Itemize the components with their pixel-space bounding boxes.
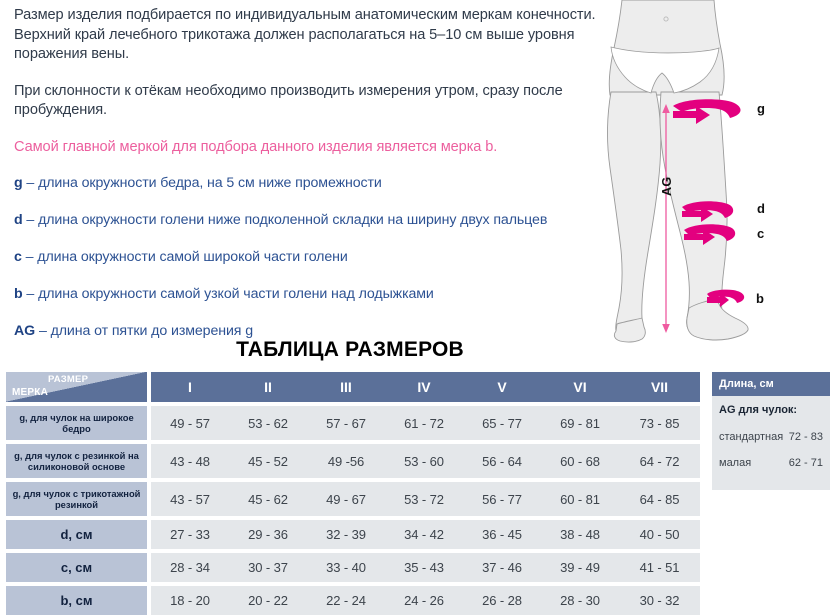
cell-r1-c1: 45 - 52 <box>229 444 307 478</box>
cell-r0-c4: 65 - 77 <box>463 406 541 440</box>
legend-text-b: длина окружности самой узкой части голен… <box>38 286 434 302</box>
table-row: d, см 27 - 33 29 - 36 32 - 39 34 - 42 36… <box>6 520 700 549</box>
cell-r4-c5: 39 - 49 <box>541 553 619 582</box>
figure-label-d: d <box>757 201 765 216</box>
corner-size-label: РАЗМЕР <box>48 374 88 385</box>
cell-r5-c4: 26 - 28 <box>463 586 541 615</box>
cell-r4-c1: 30 - 37 <box>229 553 307 582</box>
size-table-header-row: РАЗМЕР МЕРКА I II III IV V VI VII <box>6 372 700 402</box>
legend-item-d: d – длина окружности голени ниже подколе… <box>14 212 602 229</box>
intro-text-column: Размер изделия подбирается по индивидуал… <box>14 6 602 360</box>
cell-r1-c5: 60 - 68 <box>541 444 619 478</box>
cell-r5-c0: 18 - 20 <box>151 586 229 615</box>
cell-r5-c5: 28 - 30 <box>541 586 619 615</box>
table-row: g, для чулок на широкое бедро 49 - 57 53… <box>6 406 700 440</box>
cell-r0-c1: 53 - 62 <box>229 406 307 440</box>
intro-paragraph-1: Размер изделия подбирается по индивидуал… <box>14 6 602 65</box>
cell-r3-c4: 36 - 45 <box>463 520 541 549</box>
measurement-legend-list: g – длина окружности бедра, на 5 см ниже… <box>14 175 602 340</box>
legend-key-g: g <box>14 175 23 191</box>
intro-accent-note: Самой главной меркой для подбора данного… <box>14 138 602 158</box>
figure-label-c: c <box>757 226 764 241</box>
legend-key-c: c <box>14 249 22 265</box>
table-row: g, для чулок с резинкой на силиконовой о… <box>6 444 700 478</box>
cell-r3-c2: 32 - 39 <box>307 520 385 549</box>
legend-text-c: длина окружности самой широкой части гол… <box>37 249 347 265</box>
cell-r3-c0: 27 - 33 <box>151 520 229 549</box>
cell-r1-c4: 56 - 64 <box>463 444 541 478</box>
table-row: c, см 28 - 34 30 - 37 33 - 40 35 - 43 37… <box>6 553 700 582</box>
table-row: g, для чулок с трикотажной резинкой 43 -… <box>6 482 700 516</box>
figure-svg <box>604 0 836 345</box>
column-header-3: III <box>307 372 385 402</box>
legend-dash-b: – <box>26 286 34 302</box>
cell-r2-c5: 60 - 81 <box>541 482 619 516</box>
legend-item-c: c – длина окружности самой широкой части… <box>14 249 602 266</box>
row-label-b: b, см <box>6 586 147 615</box>
legend-dash-c: – <box>26 249 34 265</box>
legend-text-d: длина окружности голени ниже подколенной… <box>38 212 547 228</box>
row-label-g-knit-band: g, для чулок с трикотажной резинкой <box>6 482 147 516</box>
cell-r3-c1: 29 - 36 <box>229 520 307 549</box>
length-row-small-name: малая <box>719 457 751 469</box>
cell-r1-c0: 43 - 48 <box>151 444 229 478</box>
row-label-g-wide-thigh: g, для чулок на широкое бедро <box>6 406 147 440</box>
cell-r1-c6: 64 - 72 <box>619 444 700 478</box>
column-header-5: V <box>463 372 541 402</box>
leg-measurement-illustration: g d c b AG <box>604 0 836 345</box>
cell-r4-c4: 37 - 46 <box>463 553 541 582</box>
legend-dash-g: – <box>26 175 34 191</box>
length-row-small-value: 62 - 71 <box>789 457 823 469</box>
table-corner-cell: РАЗМЕР МЕРКА <box>6 372 147 402</box>
cell-r1-c3: 53 - 60 <box>385 444 463 478</box>
column-header-1: I <box>151 372 229 402</box>
cell-r0-c2: 57 - 67 <box>307 406 385 440</box>
cell-r0-c6: 73 - 85 <box>619 406 700 440</box>
cell-r3-c6: 40 - 50 <box>619 520 700 549</box>
cell-r0-c5: 69 - 81 <box>541 406 619 440</box>
size-table-body: g, для чулок на широкое бедро 49 - 57 53… <box>6 402 700 615</box>
legend-item-g: g – длина окружности бедра, на 5 см ниже… <box>14 175 602 192</box>
legend-dash-d: – <box>26 212 34 228</box>
legend-key-b: b <box>14 286 23 302</box>
cell-r5-c3: 24 - 26 <box>385 586 463 615</box>
legend-key-d: d <box>14 212 23 228</box>
column-header-4: IV <box>385 372 463 402</box>
cell-r4-c0: 28 - 34 <box>151 553 229 582</box>
figure-label-ag: AG <box>660 177 674 196</box>
cell-r2-c1: 45 - 62 <box>229 482 307 516</box>
cell-r4-c3: 35 - 43 <box>385 553 463 582</box>
cell-r2-c6: 64 - 85 <box>619 482 700 516</box>
column-header-2: II <box>229 372 307 402</box>
cell-r4-c2: 33 - 40 <box>307 553 385 582</box>
size-table-head: РАЗМЕР МЕРКА I II III IV V VI VII <box>6 372 700 402</box>
length-panel-header: Длина, см <box>712 372 830 396</box>
size-table-title: ТАБЛИЦА РАЗМЕРОВ <box>0 338 700 362</box>
legend-item-b: b – длина окружности самой узкой части г… <box>14 286 602 303</box>
row-label-c: c, см <box>6 553 147 582</box>
legend-text-ag: длина от пятки до измерения g <box>51 323 253 339</box>
cell-r4-c6: 41 - 51 <box>619 553 700 582</box>
cell-r2-c3: 53 - 72 <box>385 482 463 516</box>
figure-label-g: g <box>757 101 765 116</box>
cell-r0-c0: 49 - 57 <box>151 406 229 440</box>
figure-label-b: b <box>756 291 764 306</box>
length-row-standard-value: 72 - 83 <box>789 431 823 443</box>
cell-r2-c2: 49 - 67 <box>307 482 385 516</box>
cell-r1-c2: 49 -56 <box>307 444 385 478</box>
row-label-d: d, см <box>6 520 147 549</box>
legend-key-ag: AG <box>14 323 35 339</box>
cell-r2-c0: 43 - 57 <box>151 482 229 516</box>
intro-paragraph-2: При склонности к отёкам необходимо произ… <box>14 82 602 121</box>
length-panel-body: AG для чулок: стандартная 72 - 83 малая … <box>712 396 830 490</box>
cell-r5-c1: 20 - 22 <box>229 586 307 615</box>
table-row: b, см 18 - 20 20 - 22 22 - 24 24 - 26 26… <box>6 586 700 615</box>
length-row-standard-name: стандартная <box>719 431 783 443</box>
row-label-g-silicone-band: g, для чулок с резинкой на силиконовой о… <box>6 444 147 478</box>
cell-r5-c6: 30 - 32 <box>619 586 700 615</box>
length-panel: Длина, см AG для чулок: стандартная 72 -… <box>712 372 830 490</box>
legend-dash-ag: – <box>39 323 47 339</box>
column-header-7: VII <box>619 372 700 402</box>
length-panel-subtitle: AG для чулок: <box>719 404 823 416</box>
cell-r0-c3: 61 - 72 <box>385 406 463 440</box>
length-row-small: малая 62 - 71 <box>719 457 823 469</box>
cell-r2-c4: 56 - 77 <box>463 482 541 516</box>
corner-measure-label: МЕРКА <box>12 387 48 398</box>
column-header-6: VI <box>541 372 619 402</box>
legend-text-g: длина окружности бедра, на 5 см ниже про… <box>38 175 382 191</box>
length-row-standard: стандартная 72 - 83 <box>719 431 823 443</box>
size-table: РАЗМЕР МЕРКА I II III IV V VI VII g, для… <box>6 372 700 615</box>
cell-r3-c3: 34 - 42 <box>385 520 463 549</box>
cell-r3-c5: 38 - 48 <box>541 520 619 549</box>
cell-r5-c2: 22 - 24 <box>307 586 385 615</box>
